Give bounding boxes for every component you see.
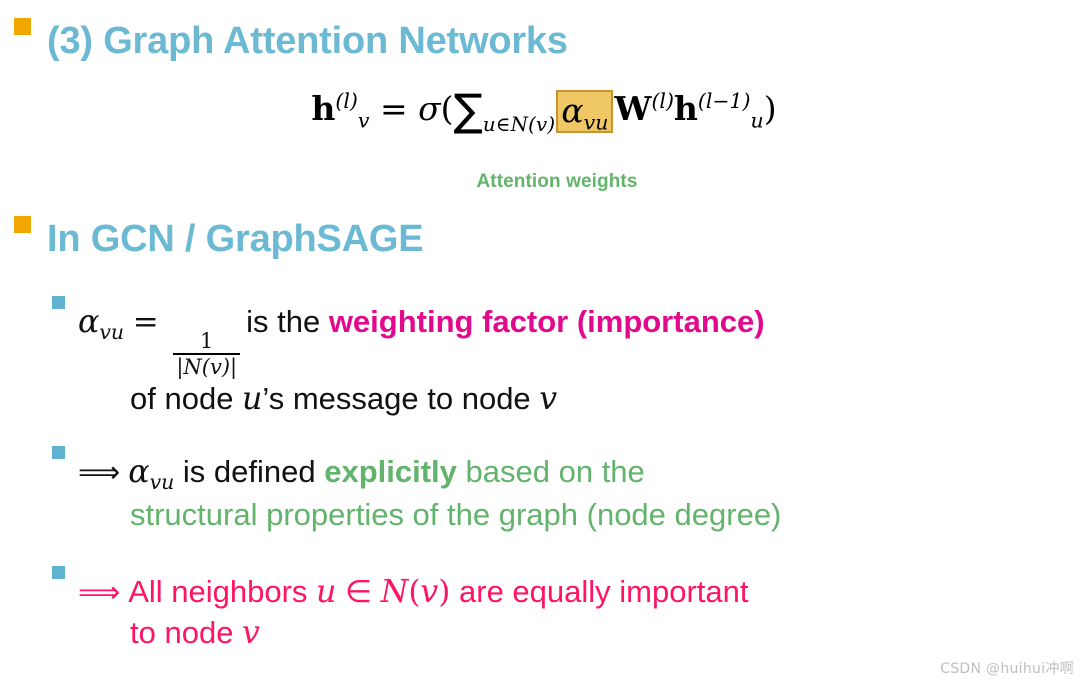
of-node-text: of node (130, 381, 242, 416)
formula-sigma: σ (418, 89, 441, 128)
square-bullet-icon (52, 296, 65, 309)
based-on-the-text: based on the (457, 454, 645, 489)
formula-equals: = (380, 89, 408, 128)
formula-h-lhs: h (311, 89, 335, 128)
is-defined-text: is defined (174, 454, 324, 489)
square-bullet-icon (14, 216, 31, 233)
structural-properties-text: structural properties of the graph (node… (78, 495, 781, 535)
variable-v: v (539, 381, 557, 417)
slide-title-row: (3) Graph Attention Networks (0, 22, 568, 62)
formula-h-rhs-subscript: u (751, 109, 764, 133)
implies-arrow-icon: ⟹ (78, 455, 120, 489)
attention-weights-caption: Attention weights (476, 171, 637, 193)
set-close-paren: ) (438, 574, 450, 610)
formula-w-matrix: W (614, 89, 651, 128)
all-neighbors-text: All neighbors (128, 574, 316, 609)
variable-v: v (242, 615, 260, 651)
square-bullet-icon (14, 18, 31, 35)
set-variable-v: v (420, 574, 438, 610)
is-the-text: is the (246, 304, 329, 339)
alpha-subscript: vu (99, 320, 124, 344)
formula-h-rhs-superscript: (l−1) (698, 89, 751, 113)
formula-open-paren: ( (441, 89, 454, 128)
formula-close-paren: ) (764, 89, 777, 128)
variable-u: u (242, 381, 262, 417)
bullet-equal-importance-text: ⟹All neighbors u ∈ N(v) are equally impo… (78, 572, 749, 653)
element-of-symbol: ∈ (336, 574, 380, 609)
page-title: (3) Graph Attention Networks (47, 22, 568, 62)
section-heading: In GCN / GraphSAGE (47, 220, 423, 260)
neighborhood-set-n: N (381, 574, 409, 610)
inverse-degree-fraction: 1 |N(v)| (173, 330, 240, 379)
watermark: CSDN @huihui冲啊 (940, 658, 1074, 678)
formula-summation-subscript: u∈N(v) (483, 113, 556, 136)
bullet-explicit-definition-text: ⟹αvu is defined explicitly based on the … (78, 452, 781, 535)
formula-summation-symbol: ∑ (454, 86, 483, 136)
bullet-alpha-definition: αvu = 1 |N(v)| is the weighting factor (… (0, 302, 1036, 420)
slide-canvas: { "slide": { "title": "(3) Graph Attenti… (0, 0, 1088, 684)
variable-u: u (316, 574, 336, 610)
to-node-text: to node (130, 615, 242, 650)
equals-sign: = (133, 304, 159, 340)
fraction-numerator: 1 (195, 330, 218, 352)
highlighted-attention-coefficient: αvu (556, 90, 613, 133)
fraction-denominator: |N(v)| (173, 356, 240, 379)
alpha-subscript: vu (150, 470, 175, 494)
main-formula: h(l)v = σ(∑u∈N(v)αvuW(l)h(l−1)u) (0, 88, 1088, 135)
formula-h-lhs-superscript: (l) (335, 89, 357, 113)
formula-expression: h(l)v = σ(∑u∈N(v)αvuW(l)h(l−1)u) (311, 88, 776, 135)
explicitly-emphasis: explicitly (324, 454, 457, 489)
square-bullet-icon (52, 566, 65, 579)
formula-h-lhs-subscript: v (358, 109, 370, 133)
alpha-symbol: α (561, 91, 583, 130)
bullet-explicit-definition: ⟹αvu is defined explicitly based on the … (0, 452, 1036, 535)
alpha-subscript: vu (584, 111, 609, 135)
equally-important-text: are equally important (450, 574, 748, 609)
set-open-paren: ( (408, 574, 420, 610)
message-to-node-text: ’s message to node (262, 381, 539, 416)
bullet-alpha-definition-text: αvu = 1 |N(v)| is the weighting factor (… (78, 302, 765, 420)
bullet-equal-importance: ⟹All neighbors u ∈ N(v) are equally impo… (0, 572, 1036, 653)
square-bullet-icon (52, 446, 65, 459)
alpha-symbol: α (128, 454, 149, 490)
alpha-symbol: α (78, 304, 99, 340)
implies-arrow-icon: ⟹ (78, 575, 120, 609)
section-heading-row: In GCN / GraphSAGE (0, 220, 423, 260)
formula-h-rhs: h (674, 89, 698, 128)
attention-weights-caption-row: Attention weights (0, 171, 1088, 193)
weighting-factor-emphasis: weighting factor (importance) (329, 304, 765, 339)
formula-w-superscript: (l) (651, 89, 673, 113)
